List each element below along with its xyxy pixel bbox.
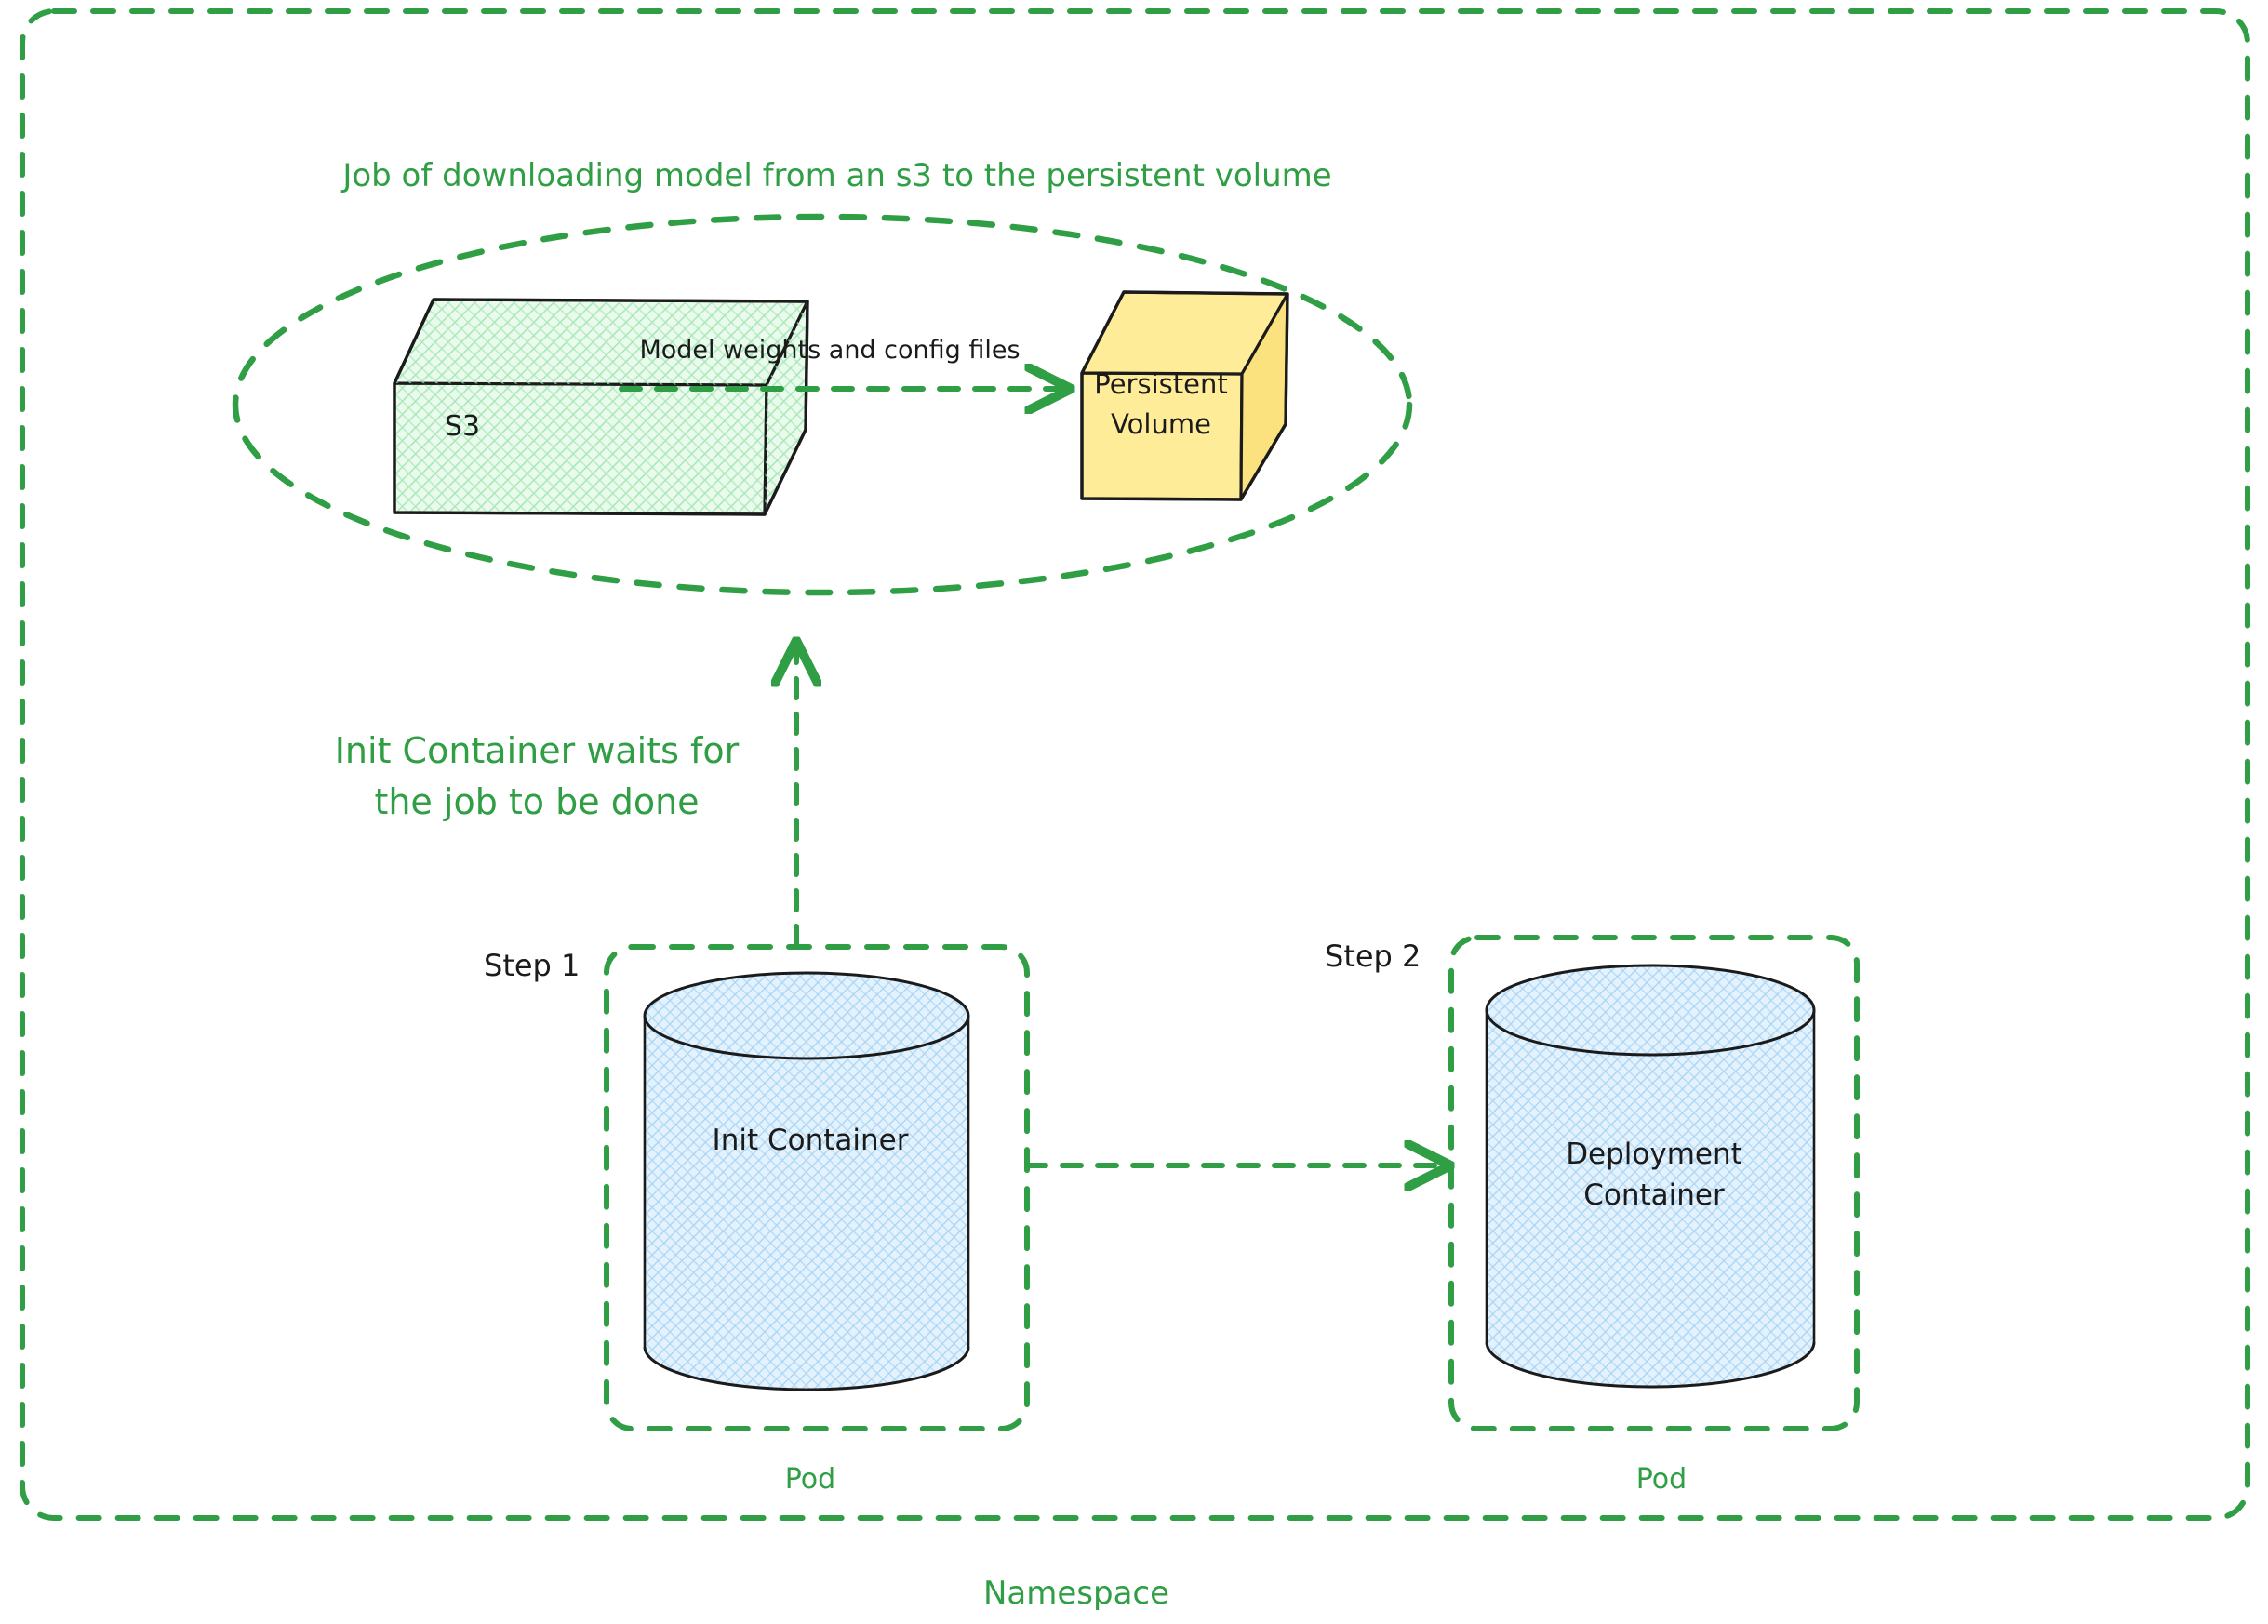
step-2-label: Step 2 (1325, 938, 1421, 976)
init-waits-edge-label-line1: Init Container waits for (335, 728, 740, 774)
pod-2-label: Pod (1636, 1462, 1687, 1498)
s3-cube-label: S3 (445, 409, 480, 445)
s3-cube (394, 300, 807, 514)
deployment-container-label-line2: Container (1583, 1178, 1725, 1215)
model-weights-edge-label: Model weights and config files (639, 335, 1020, 367)
init-container-label: Init Container (713, 1123, 909, 1160)
job-group-caption: Job of downloading model from an s3 to t… (342, 156, 1331, 197)
diagram-canvas: Job of downloading model from an s3 to t… (0, 0, 2268, 1624)
deployment-container-cylinder (1487, 965, 1814, 1387)
init-waits-edge-label-line2: the job to be done (374, 779, 699, 825)
diagram-vector-layer (0, 0, 2268, 1624)
deployment-container-label-line1: Deployment (1566, 1137, 1742, 1174)
namespace-label: Namespace (983, 1574, 1169, 1615)
init-container-cylinder (645, 973, 968, 1390)
persistent-volume-label-line1: Persistent (1094, 367, 1227, 402)
step-1-label: Step 1 (484, 947, 580, 985)
pod-1-label: Pod (785, 1462, 835, 1498)
persistent-volume-label-line2: Volume (1111, 407, 1211, 442)
